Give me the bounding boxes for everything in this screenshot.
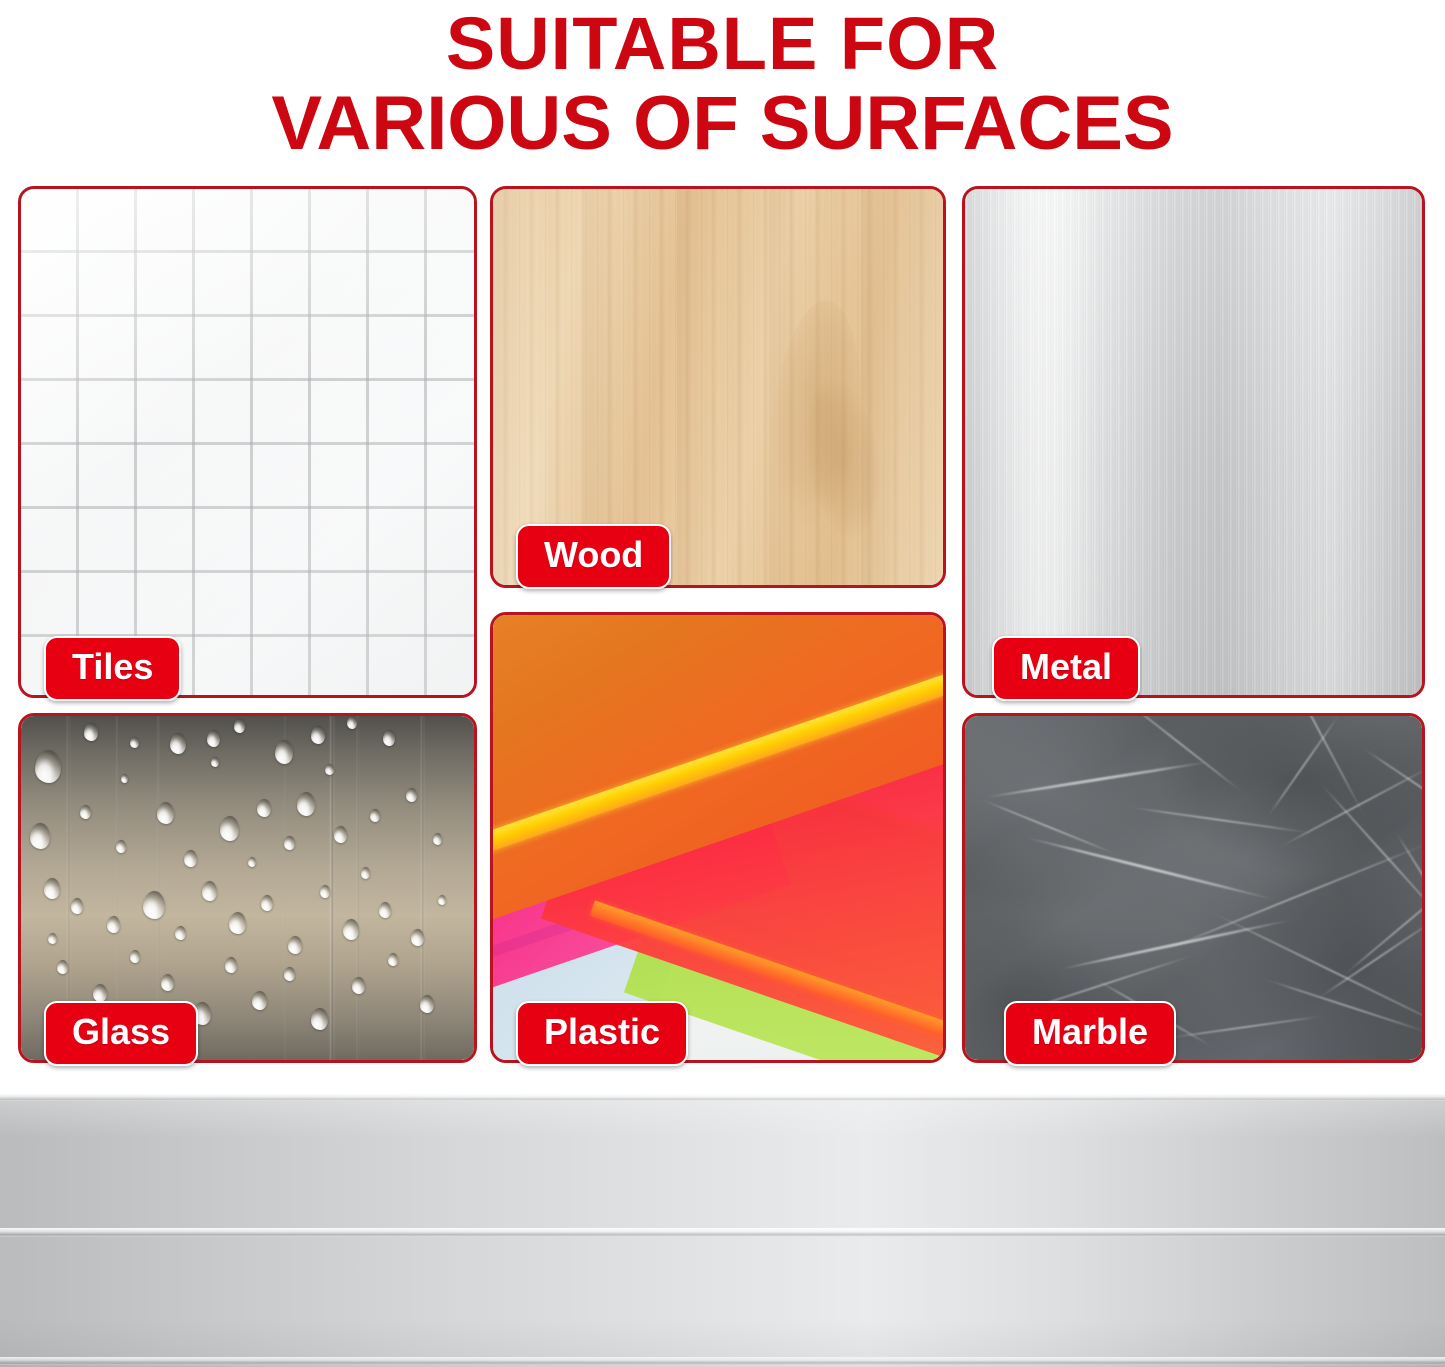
page-title: SUITABLE FOR VARIOUS OF SURFACES [0, 4, 1445, 164]
water-droplet [297, 792, 315, 816]
strip-shading-overlay [0, 1094, 1445, 1367]
surface-card-tiles [18, 186, 477, 698]
water-droplet [438, 895, 446, 905]
water-droplet [352, 977, 365, 994]
metal-texture [965, 189, 1422, 695]
water-droplet [48, 933, 57, 944]
page-title-line-1: SUITABLE FOR [0, 4, 1445, 84]
water-droplet [175, 926, 186, 940]
water-droplet [225, 957, 237, 973]
water-droplet [284, 836, 295, 850]
glass-streak [356, 716, 360, 1060]
water-droplet [411, 929, 424, 946]
water-droplet [311, 1008, 328, 1030]
water-droplet [229, 912, 246, 934]
water-droplet [343, 919, 359, 940]
surface-label-tiles: Tiles [44, 636, 181, 701]
surface-label-plastic: Plastic [516, 1001, 688, 1066]
plastic-texture [493, 615, 943, 1060]
water-droplet [288, 936, 302, 954]
tiles-texture [21, 189, 474, 695]
water-droplet [433, 833, 442, 845]
surface-label-wood: Wood [516, 524, 671, 589]
surface-card-metal [962, 186, 1425, 698]
water-droplet [406, 788, 417, 802]
water-droplet [35, 750, 61, 783]
water-droplet [252, 991, 267, 1010]
water-droplet [30, 823, 50, 849]
glass-streak [284, 716, 286, 1060]
water-droplet [248, 857, 256, 867]
water-droplet [143, 891, 165, 919]
water-droplet [275, 740, 293, 764]
water-droplet [207, 730, 220, 747]
bottom-metal-strip [0, 1094, 1445, 1367]
water-droplet [347, 716, 357, 729]
surface-card-plastic [490, 612, 946, 1063]
water-droplet [130, 950, 140, 963]
water-droplet [325, 764, 334, 775]
water-droplet [80, 805, 91, 819]
water-droplet [370, 809, 380, 822]
metal-sheen-overlay [965, 189, 1422, 695]
water-droplet [71, 898, 83, 914]
water-droplet [311, 726, 325, 744]
water-droplet [234, 719, 245, 733]
water-droplet [320, 885, 330, 898]
water-droplet [202, 881, 217, 901]
water-droplet [121, 774, 128, 783]
surface-label-metal: Metal [992, 636, 1140, 701]
water-droplet [334, 826, 347, 843]
water-droplet [107, 916, 120, 933]
infographic-page: SUITABLE FOR VARIOUS OF SURFACES Tiles W… [0, 0, 1445, 1367]
surface-label-glass: Glass [44, 1001, 198, 1066]
water-droplet [261, 895, 273, 911]
water-droplet [84, 723, 98, 741]
water-droplet [116, 840, 126, 853]
water-droplet [130, 737, 139, 748]
water-droplet [157, 802, 174, 824]
water-droplet [161, 974, 174, 991]
water-droplet [220, 816, 239, 841]
tiles-sheen-overlay [21, 189, 474, 695]
water-droplet [257, 799, 271, 817]
water-droplet [184, 850, 197, 867]
water-droplet [44, 878, 60, 899]
water-droplet [379, 902, 391, 918]
water-droplet [420, 995, 434, 1013]
water-droplet [284, 967, 295, 981]
water-droplet [361, 867, 370, 879]
water-droplet [383, 730, 395, 746]
page-title-line-2: VARIOUS OF SURFACES [0, 84, 1445, 164]
surface-label-marble: Marble [1004, 1001, 1176, 1066]
water-droplet [388, 953, 398, 966]
